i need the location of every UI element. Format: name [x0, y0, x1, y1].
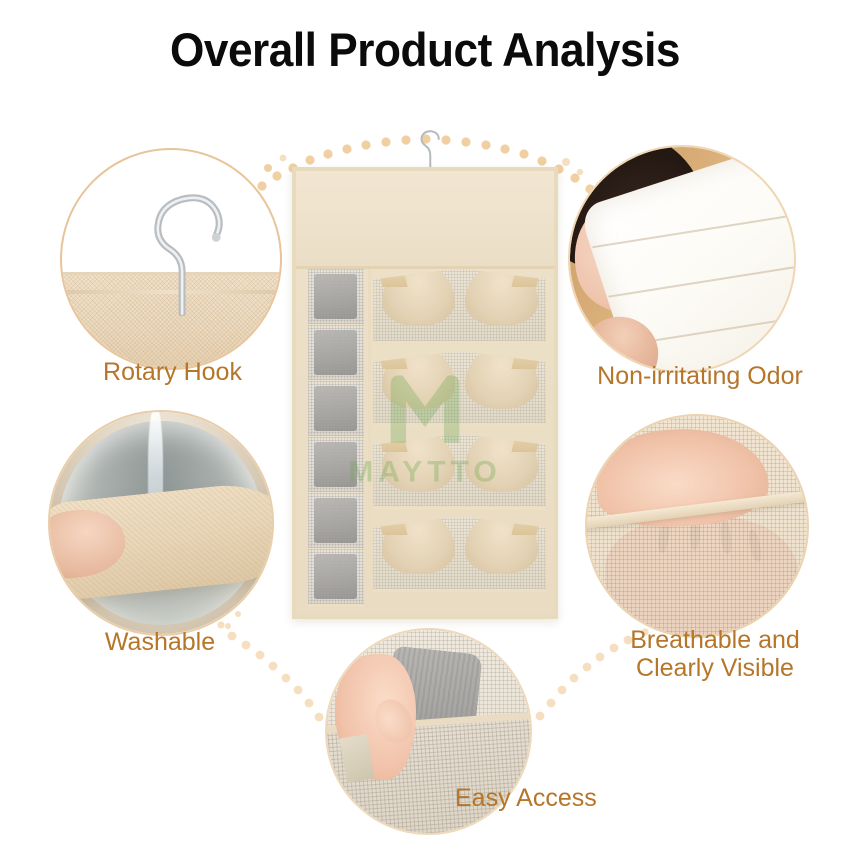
feature-circle-washable[interactable]	[48, 410, 274, 636]
feature-label-easy-access: Easy Access	[455, 784, 745, 812]
feature-circle-non-irritating-odor[interactable]	[568, 145, 796, 373]
small-pocket[interactable]	[308, 381, 364, 439]
feature-circle-rotary-hook[interactable]	[60, 148, 282, 370]
large-pocket[interactable]	[373, 434, 546, 510]
small-pocket[interactable]	[308, 325, 364, 383]
sock-item	[314, 386, 357, 431]
bra-item	[380, 434, 539, 492]
small-pocket[interactable]	[308, 269, 364, 327]
sock-item	[314, 274, 357, 319]
page-title: Overall Product Analysis	[26, 22, 825, 77]
feature-label-non-irritating-odor: Non-irritating Odor	[555, 362, 845, 390]
large-pocket[interactable]	[373, 517, 546, 593]
small-pocket[interactable]	[308, 493, 364, 551]
feature-label-rotary-hook: Rotary Hook	[55, 358, 290, 386]
sock-item	[314, 498, 357, 543]
sock-item	[314, 330, 357, 375]
bra-item	[380, 269, 539, 327]
sock-item	[314, 442, 357, 487]
feature-circle-breathable[interactable]	[585, 414, 809, 638]
dot-cluster-top-left	[264, 155, 286, 172]
feature-label-washable: Washable	[40, 628, 280, 656]
large-pocket[interactable]	[373, 269, 546, 345]
feature-label-breathable: Breathable and Clearly Visible	[580, 626, 850, 682]
small-pocket[interactable]	[308, 549, 364, 607]
rotary-hook-icon	[134, 185, 234, 316]
small-pocket[interactable]	[308, 437, 364, 495]
small-pocket-column	[304, 269, 371, 606]
infographic-canvas: Overall Product Analysis	[0, 0, 850, 850]
bra-item	[380, 351, 539, 409]
product-hanging-organizer[interactable]: MAYTTO	[292, 167, 558, 619]
bra-item	[380, 517, 539, 575]
large-pocket[interactable]	[373, 351, 546, 427]
organizer-panel: MAYTTO	[292, 167, 558, 619]
sock-item	[314, 554, 357, 599]
large-pocket-column	[373, 269, 546, 606]
organizer-top-band	[296, 171, 554, 269]
